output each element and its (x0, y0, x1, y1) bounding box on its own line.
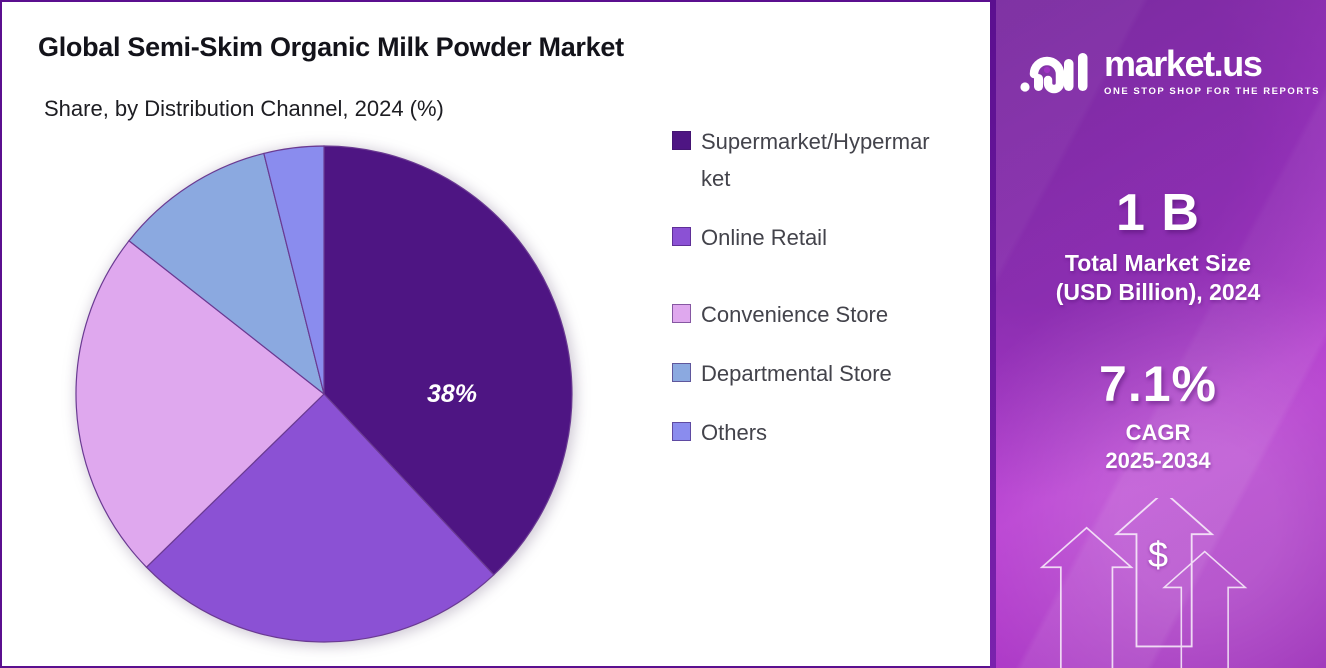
brand-panel: $ market.us ONE STOP SHOP FOR THE REPOR (990, 0, 1326, 668)
legend-item-label: Supermarket/Hypermarket (701, 124, 940, 198)
legend-swatch-icon (672, 131, 691, 150)
cagr-caption-line-2: 2025-2034 (990, 447, 1326, 475)
legend-item-label: Others (701, 415, 767, 452)
brand-logo-wordmark: market.us (1104, 46, 1320, 82)
market-size-caption: Total Market Size (USD Billion), 2024 (990, 249, 1326, 308)
chart-panel: Global Semi-Skim Organic Milk Powder Mar… (0, 0, 990, 668)
page-title: Global Semi-Skim Organic Milk Powder Mar… (38, 32, 624, 63)
legend-item-departmental-store[interactable]: Departmental Store (672, 356, 940, 393)
market-size-stat: 1 B Total Market Size (USD Billion), 202… (990, 186, 1326, 307)
pie-slice-value-label: 38% (427, 380, 477, 408)
dollar-sign-icon: $ (990, 534, 1326, 576)
pie-chart: 38% (64, 134, 584, 654)
cagr-value: 7.1% (990, 358, 1326, 411)
legend-item-label: Convenience Store (701, 297, 888, 334)
brand-logo-tagline: ONE STOP SHOP FOR THE REPORTS (1104, 86, 1320, 97)
legend-item-others[interactable]: Others (672, 415, 940, 452)
cagr-stat: 7.1% CAGR 2025-2034 (990, 358, 1326, 475)
pie-chart-svg: 38% (64, 134, 584, 654)
market-size-caption-line-1: Total Market Size (990, 249, 1326, 278)
market-us-logo-mark-icon (1020, 49, 1092, 95)
cagr-caption: CAGR 2025-2034 (990, 419, 1326, 475)
brand-panel-left-edge (990, 0, 996, 668)
legend-swatch-icon (672, 304, 691, 323)
chart-subtitle: Share, by Distribution Channel, 2024 (%) (44, 96, 444, 122)
legend-item-label: Online Retail (701, 220, 827, 257)
cagr-caption-line-1: CAGR (990, 419, 1326, 447)
legend-item-label: Departmental Store (701, 356, 892, 393)
legend-swatch-icon (672, 422, 691, 441)
market-size-caption-line-2: (USD Billion), 2024 (990, 278, 1326, 307)
chart-legend: Supermarket/Hypermarket Online Retail Co… (672, 124, 940, 474)
legend-item-online-retail[interactable]: Online Retail (672, 220, 940, 257)
brand-logo[interactable]: market.us ONE STOP SHOP FOR THE REPORTS (1020, 46, 1320, 97)
infographic-root: Global Semi-Skim Organic Milk Powder Mar… (0, 0, 1326, 668)
legend-swatch-icon (672, 227, 691, 246)
legend-item-supermarket-hypermarket[interactable]: Supermarket/Hypermarket (672, 124, 940, 198)
legend-item-convenience-store[interactable]: Convenience Store (672, 297, 940, 334)
market-size-value: 1 B (990, 186, 1326, 241)
legend-swatch-icon (672, 363, 691, 382)
